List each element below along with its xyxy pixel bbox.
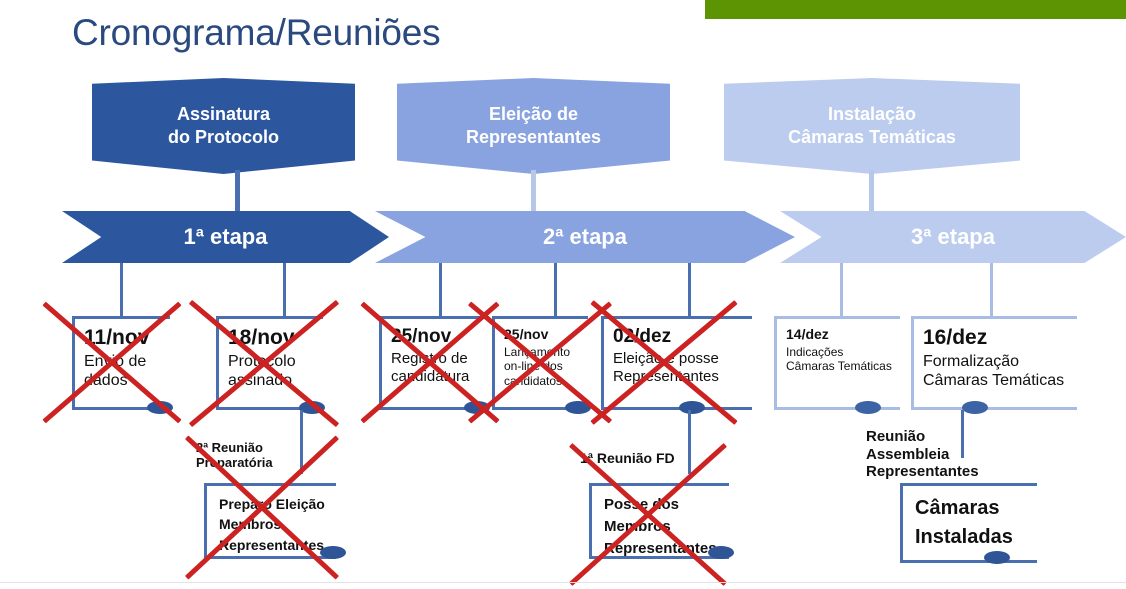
- meeting-label-2: 1ª Reunião FD: [580, 450, 675, 467]
- banner-stem-1: [235, 170, 240, 218]
- milestone-card-7[interactable]: 16/dez Formalização Câmaras Temáticas: [911, 316, 1077, 410]
- milestone-drop-6: [840, 263, 843, 318]
- milestone-drop-7: [990, 263, 993, 318]
- outcome-box-1[interactable]: Preparo Eleição Membros Representantes: [204, 483, 336, 559]
- slide-canvas: Cronograma/Reuniões Assinatura do Protoc…: [0, 0, 1126, 589]
- milestone-desc-2: Protocolo assinado: [228, 352, 317, 390]
- phase-banner-2-line1: Eleição de: [466, 103, 601, 126]
- milestone-date-1: 11/nov: [84, 326, 164, 350]
- milestone-card-4[interactable]: 25/nov Lançamento on-line dos candidatos: [492, 316, 588, 410]
- milestone-card-1[interactable]: 11/nov Envio de dados: [72, 316, 170, 410]
- milestone-drop-1: [120, 263, 123, 318]
- phase-banner-3-line1: Instalação: [788, 103, 956, 126]
- meeting-drop-1: [300, 410, 303, 474]
- phase-banner-2-line2: Representantes: [466, 126, 601, 149]
- milestone-node-4: [565, 401, 591, 414]
- phase-banner-3-line2: Câmaras Temáticas: [788, 126, 956, 149]
- milestone-drop-2: [283, 263, 286, 318]
- milestone-desc-4: Lançamento on-line dos candidatos: [504, 345, 582, 388]
- outcome-node-3: [984, 551, 1010, 564]
- milestone-node-6: [855, 401, 881, 414]
- banner-stem-2: [531, 170, 536, 218]
- milestone-drop-3: [439, 263, 442, 318]
- milestone-card-5[interactable]: 02/dez Eleição e posse Representantes: [601, 316, 752, 410]
- milestone-card-3[interactable]: 25/nov Registro de candidatura: [379, 316, 489, 410]
- phase-banner-1-line2: do Protocolo: [168, 126, 279, 149]
- milestone-card-6[interactable]: 14/dez Indicações Câmaras Temáticas: [774, 316, 900, 410]
- milestone-desc-1: Envio de dados: [84, 352, 164, 390]
- phase-banner-3[interactable]: Instalação Câmaras Temáticas: [724, 78, 1020, 174]
- meeting-label-1: 2ª Reunião Preparatória: [196, 440, 273, 471]
- milestone-date-3: 25/nov: [391, 326, 483, 348]
- phase-banner-1-line1: Assinatura: [168, 103, 279, 126]
- outcome-node-1: [320, 546, 346, 559]
- stage-chevron-1[interactable]: 1ª etapa: [62, 211, 389, 263]
- milestone-node-7: [962, 401, 988, 414]
- outcome-node-2: [708, 546, 734, 559]
- accent-bar: [705, 0, 1126, 19]
- milestone-node-5: [679, 401, 705, 414]
- phase-banner-1[interactable]: Assinatura do Protocolo: [92, 78, 355, 174]
- milestone-desc-7: Formalização Câmaras Temáticas: [923, 352, 1071, 390]
- phase-banner-2[interactable]: Eleição de Representantes: [397, 78, 670, 174]
- milestone-desc-3: Registro de candidatura: [391, 350, 483, 386]
- meeting-drop-2: [688, 410, 691, 474]
- milestone-drop-5: [688, 263, 691, 318]
- milestone-node-3: [464, 401, 490, 414]
- outcome-box-3[interactable]: Câmaras Instaladas: [900, 483, 1037, 563]
- milestone-date-2: 18/nov: [228, 326, 317, 350]
- milestone-desc-6: Indicações Câmaras Temáticas: [786, 345, 894, 374]
- stage-chevron-3[interactable]: 3ª etapa: [780, 211, 1126, 263]
- milestone-drop-4: [554, 263, 557, 318]
- outcome-box-2[interactable]: Posse dos Membros Representantes: [589, 483, 729, 559]
- milestone-date-7: 16/dez: [923, 326, 1071, 350]
- milestone-node-1: [147, 401, 173, 414]
- page-title: Cronograma/Reuniões: [72, 12, 440, 54]
- milestone-date-4: 25/nov: [504, 326, 582, 342]
- meeting-label-3: Reunião Assembleia Representantes: [866, 428, 979, 481]
- milestone-desc-5: Eleição e posse Representantes: [613, 350, 746, 386]
- milestone-card-2[interactable]: 18/nov Protocolo assinado: [216, 316, 323, 410]
- stage-chevron-2[interactable]: 2ª etapa: [375, 211, 795, 263]
- milestone-date-5: 02/dez: [613, 326, 746, 348]
- footer-divider: [0, 582, 1126, 583]
- banner-stem-3: [869, 170, 874, 218]
- milestone-date-6: 14/dez: [786, 326, 894, 342]
